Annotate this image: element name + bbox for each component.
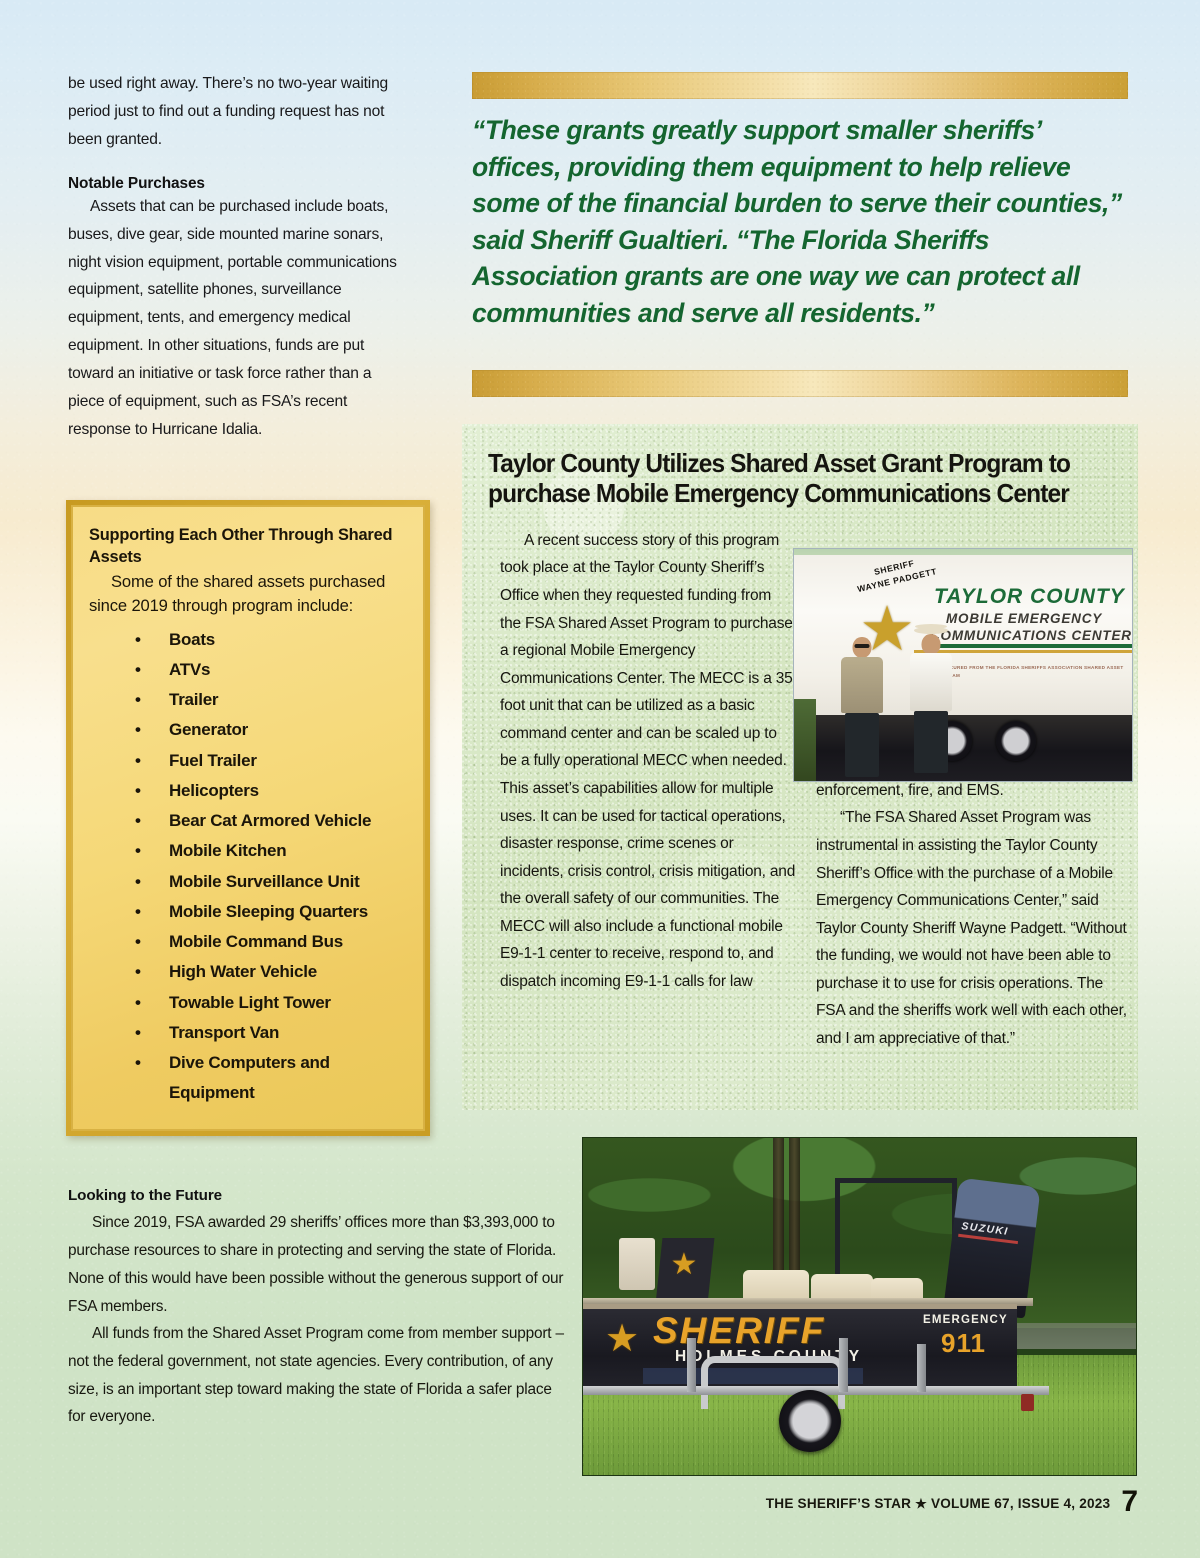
officer-right-uniform — [910, 653, 952, 711]
mecc-trailer-photo: SHERIFF WAYNE PADGETT ★ TAYLOR COUNTY MO… — [793, 548, 1133, 782]
footer-star-icon: ★ — [915, 1496, 927, 1511]
asset-list-item-label: Dive Computers and Equipment — [169, 1053, 330, 1102]
footer-publication-name: THE SHERIFF’S STAR — [766, 1496, 911, 1511]
asset-list-item: •Mobile Kitchen — [89, 836, 403, 866]
continued-body-text: be used right away. There’s no two-year … — [68, 70, 410, 154]
officer-left — [834, 627, 890, 779]
asset-list-item: •High Water Vehicle — [89, 957, 403, 987]
list-bullet-icon: • — [135, 927, 141, 957]
list-bullet-icon: • — [135, 776, 141, 806]
asset-list-item: •Transport Van — [89, 1018, 403, 1048]
asset-list-item: •Mobile Surveillance Unit — [89, 867, 403, 897]
asset-list-item: •Towable Light Tower — [89, 988, 403, 1018]
officer-right — [902, 621, 960, 779]
asset-list-item-label: Generator — [169, 720, 248, 739]
asset-list-item-label: High Water Vehicle — [169, 962, 317, 981]
looking-to-future-heading: Looking to the Future — [68, 1182, 568, 1209]
list-bullet-icon: • — [135, 715, 141, 745]
continued-paragraph: be used right away. There’s no two-year … — [68, 70, 410, 154]
asset-list-item-label: Mobile Surveillance Unit — [169, 872, 360, 891]
future-paragraph-2: All funds from the Shared Asset Program … — [68, 1320, 568, 1431]
notable-purchases-body: Assets that can be purchased include boa… — [68, 193, 410, 444]
feature-content: Taylor County Utilizes Shared Asset Gran… — [462, 424, 1138, 509]
pull-quote: “These grants greatly support smaller sh… — [472, 112, 1132, 331]
hull-emergency-number: 911 — [941, 1328, 986, 1359]
officer-left-trousers — [845, 713, 879, 777]
trailer-post-1 — [687, 1338, 696, 1392]
asset-list-item-label: Boats — [169, 630, 215, 649]
gold-rule-bottom — [472, 370, 1128, 397]
feature-right-paragraph-2: “The FSA Shared Asset Program was instru… — [816, 804, 1128, 1052]
left-text-column: be used right away. There’s no two-year … — [68, 70, 410, 444]
list-bullet-icon: • — [135, 1048, 141, 1078]
hull-emergency-label: EMERGENCY — [923, 1314, 1008, 1326]
footer-credit-line: THE SHERIFF’S STAR ★ VOLUME 67, ISSUE 4,… — [766, 1496, 1111, 1516]
hull-sheriff-text: SHERIFF — [653, 1310, 825, 1352]
feature-headline: Taylor County Utilizes Shared Asset Gran… — [488, 448, 1075, 509]
officer-right-trousers — [914, 711, 948, 773]
asset-list-item-label: Transport Van — [169, 1023, 279, 1042]
looking-to-future-section: Looking to the Future Since 2019, FSA aw… — [68, 1182, 568, 1431]
officer-right-cowboy-hat-icon — [914, 627, 948, 634]
holmes-county-boat-photo: ★ SUZUKI ★ SHERIFF HOLMES COUNTY EMERGEN… — [582, 1137, 1137, 1476]
asset-list-item: •Mobile Command Bus — [89, 927, 403, 957]
asset-list-item-label: Towable Light Tower — [169, 993, 331, 1012]
asset-list-item-label: Mobile Command Bus — [169, 932, 343, 951]
trailer-wheel-rear — [996, 721, 1036, 761]
list-bullet-icon: • — [135, 957, 141, 987]
asset-list: •Boats•ATVs•Trailer•Generator•Fuel Trail… — [89, 625, 403, 1109]
list-bullet-icon: • — [135, 685, 141, 715]
sidebar-lead-text: Some of the shared assets purchased sinc… — [89, 570, 403, 619]
feature-column-right: enforcement, fire, and EMS. “The FSA Sha… — [816, 777, 1128, 1053]
list-bullet-icon: • — [135, 746, 141, 776]
trailer-fine-print: NO SECURED FROM THE FLORIDA SHERIFFS ASS… — [934, 664, 1132, 680]
asset-list-item: •Trailer — [89, 685, 403, 715]
asset-list-item: •Bear Cat Armored Vehicle — [89, 806, 403, 836]
magazine-page: be used right away. There’s no two-year … — [0, 0, 1200, 1558]
asset-list-item: •Generator — [89, 715, 403, 745]
asset-list-item-label: Mobile Kitchen — [169, 841, 286, 860]
trailer-title-line-2: MOBILE EMERGENCY — [946, 611, 1102, 626]
trailer-post-3 — [917, 1344, 926, 1392]
asset-list-item-label: Bear Cat Armored Vehicle — [169, 811, 371, 830]
officer-left-uniform — [841, 657, 883, 713]
asset-list-item-label: Helicopters — [169, 781, 259, 800]
asset-list-item-label: Fuel Trailer — [169, 751, 257, 770]
asset-list-item: •Fuel Trailer — [89, 746, 403, 776]
notable-purchases-heading: Notable Purchases — [68, 175, 410, 193]
asset-list-item: •Boats — [89, 625, 403, 655]
trailer-post-2 — [839, 1338, 848, 1392]
list-bullet-icon: • — [135, 867, 141, 897]
future-paragraph-1: Since 2019, FSA awarded 29 sheriffs’ off… — [68, 1209, 568, 1320]
list-bullet-icon: • — [135, 625, 141, 655]
asset-list-item: •Helicopters — [89, 776, 403, 806]
list-bullet-icon: • — [135, 655, 141, 685]
sidebar-heading: Supporting Each Other Through Shared Ass… — [89, 525, 403, 569]
page-footer: THE SHERIFF’S STAR ★ VOLUME 67, ISSUE 4,… — [766, 1488, 1138, 1516]
asset-list-item: •Dive Computers and Equipment — [89, 1048, 403, 1109]
officer-left-sunglasses-icon — [855, 644, 870, 648]
asset-list-item: •ATVs — [89, 655, 403, 685]
trailer-wheel — [779, 1390, 841, 1452]
list-bullet-icon: • — [135, 988, 141, 1018]
tree-trunk-2 — [789, 1138, 800, 1288]
asset-list-item: •Mobile Sleeping Quarters — [89, 897, 403, 927]
footer-issue-info: VOLUME 67, ISSUE 4, 2023 — [931, 1496, 1110, 1511]
list-bullet-icon: • — [135, 1018, 141, 1048]
list-bullet-icon: • — [135, 836, 141, 866]
trailer-tail-light — [1021, 1394, 1034, 1411]
page-number: 7 — [1121, 1488, 1138, 1516]
shared-assets-sidebar-inner: Supporting Each Other Through Shared Ass… — [71, 505, 425, 1131]
asset-list-item-label: ATVs — [169, 660, 210, 679]
asset-list-item-label: Mobile Sleeping Quarters — [169, 902, 368, 921]
trailer-title-line-3: COMMUNICATIONS CENTER — [930, 628, 1132, 643]
boat-fuel-jug — [619, 1238, 655, 1290]
officer-right-head — [922, 634, 941, 655]
trailer-title-line-1: TAYLOR COUNTY — [934, 585, 1125, 609]
console-sheriff-star-icon: ★ — [669, 1250, 699, 1280]
list-bullet-icon: • — [135, 897, 141, 927]
shared-assets-sidebar: Supporting Each Other Through Shared Ass… — [66, 500, 430, 1136]
hull-sheriff-star-icon: ★ — [603, 1320, 641, 1358]
gold-rule-top — [472, 72, 1128, 99]
list-bullet-icon: • — [135, 806, 141, 836]
asset-list-item-label: Trailer — [169, 690, 218, 709]
notable-paragraph: Assets that can be purchased include boa… — [68, 193, 410, 444]
photo-grass-left — [794, 699, 816, 781]
feature-column-left: A recent success story of this program t… — [500, 527, 796, 996]
